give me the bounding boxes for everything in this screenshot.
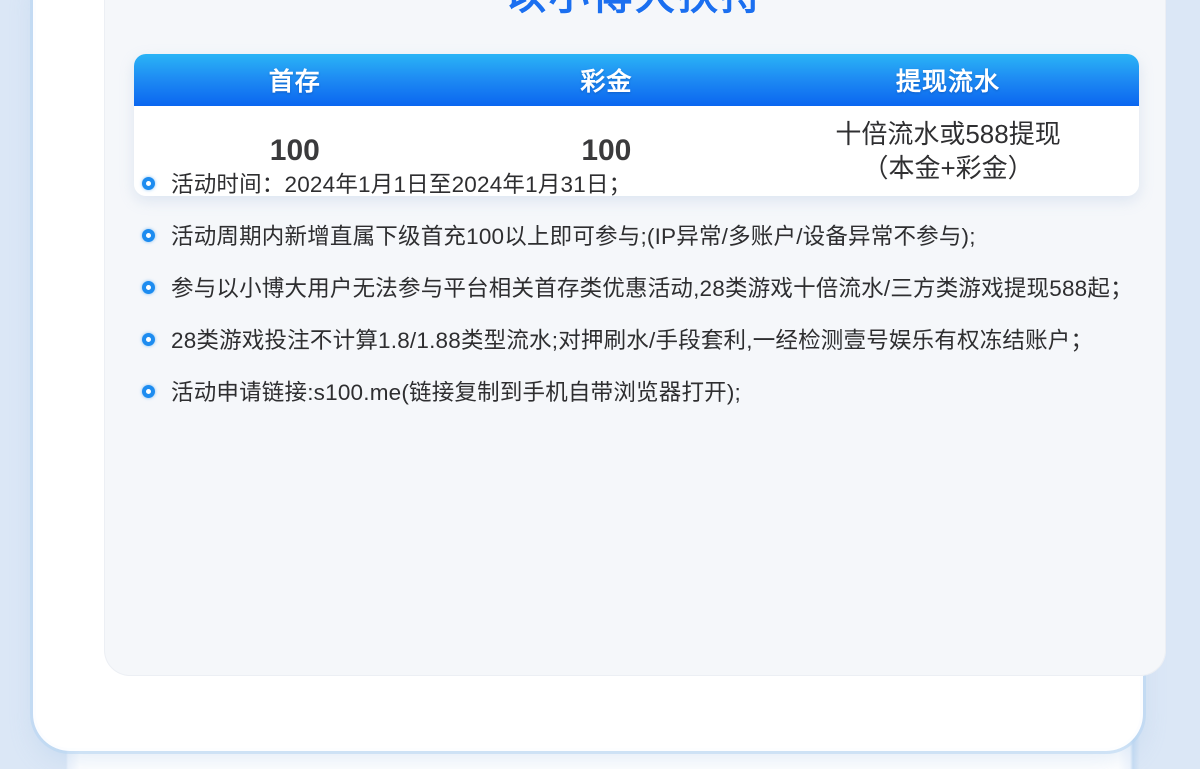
column-header-bonus: 彩金 bbox=[456, 54, 758, 106]
column-header-withdraw: 提现流水 bbox=[757, 54, 1139, 106]
list-item: 参与以小博大用户无法参与平台相关首存类优惠活动,28类游戏十倍流水/三方类游戏提… bbox=[142, 272, 1142, 305]
ring-bullet-icon bbox=[142, 281, 155, 294]
table-header-row: 首存 彩金 提现流水 bbox=[134, 54, 1139, 106]
list-item: 活动时间：2024年1月1日至2024年1月31日； bbox=[142, 168, 1142, 201]
title-text: 以小博大扶持 bbox=[506, 0, 764, 16]
list-item: 28类游戏投注不计算1.8/1.88类型流水;对押刷水/手段套利,一经检测壹号娱… bbox=[142, 324, 1142, 357]
promotion-card: 以小博大扶持 首存 彩金 提现流水 100 100 十倍流水或588提现 （本金… bbox=[104, 0, 1166, 676]
ring-bullet-icon bbox=[142, 229, 155, 242]
note-text: 活动周期内新增直属下级首充100以上即可参与;(IP异常/多账户/设备异常不参与… bbox=[171, 220, 976, 253]
note-text: 28类游戏投注不计算1.8/1.88类型流水;对押刷水/手段套利,一经检测壹号娱… bbox=[171, 324, 1093, 357]
list-item: 活动周期内新增直属下级首充100以上即可参与;(IP异常/多账户/设备异常不参与… bbox=[142, 220, 1142, 253]
note-text: 活动时间：2024年1月1日至2024年1月31日； bbox=[171, 168, 631, 201]
column-header-deposit: 首存 bbox=[134, 54, 456, 106]
list-item: 活动申请链接:s100.me(链接复制到手机自带浏览器打开); bbox=[142, 376, 1142, 409]
notes-list: 活动时间：2024年1月1日至2024年1月31日； 活动周期内新增直属下级首充… bbox=[142, 168, 1142, 428]
note-text: 参与以小博大用户无法参与平台相关首存类优惠活动,28类游戏十倍流水/三方类游戏提… bbox=[171, 272, 1133, 305]
ring-bullet-icon bbox=[142, 177, 155, 190]
ring-bullet-icon bbox=[142, 333, 155, 346]
panel-shell: 以小博大扶持 首存 彩金 提现流水 100 100 十倍流水或588提现 （本金… bbox=[36, 0, 1140, 748]
cell-withdraw-line-1: 十倍流水或588提现 bbox=[835, 117, 1060, 151]
note-text: 活动申请链接:s100.me(链接复制到手机自带浏览器打开); bbox=[171, 376, 741, 409]
ring-bullet-icon bbox=[142, 385, 155, 398]
page-title: 以小博大扶持 bbox=[104, 0, 1166, 16]
